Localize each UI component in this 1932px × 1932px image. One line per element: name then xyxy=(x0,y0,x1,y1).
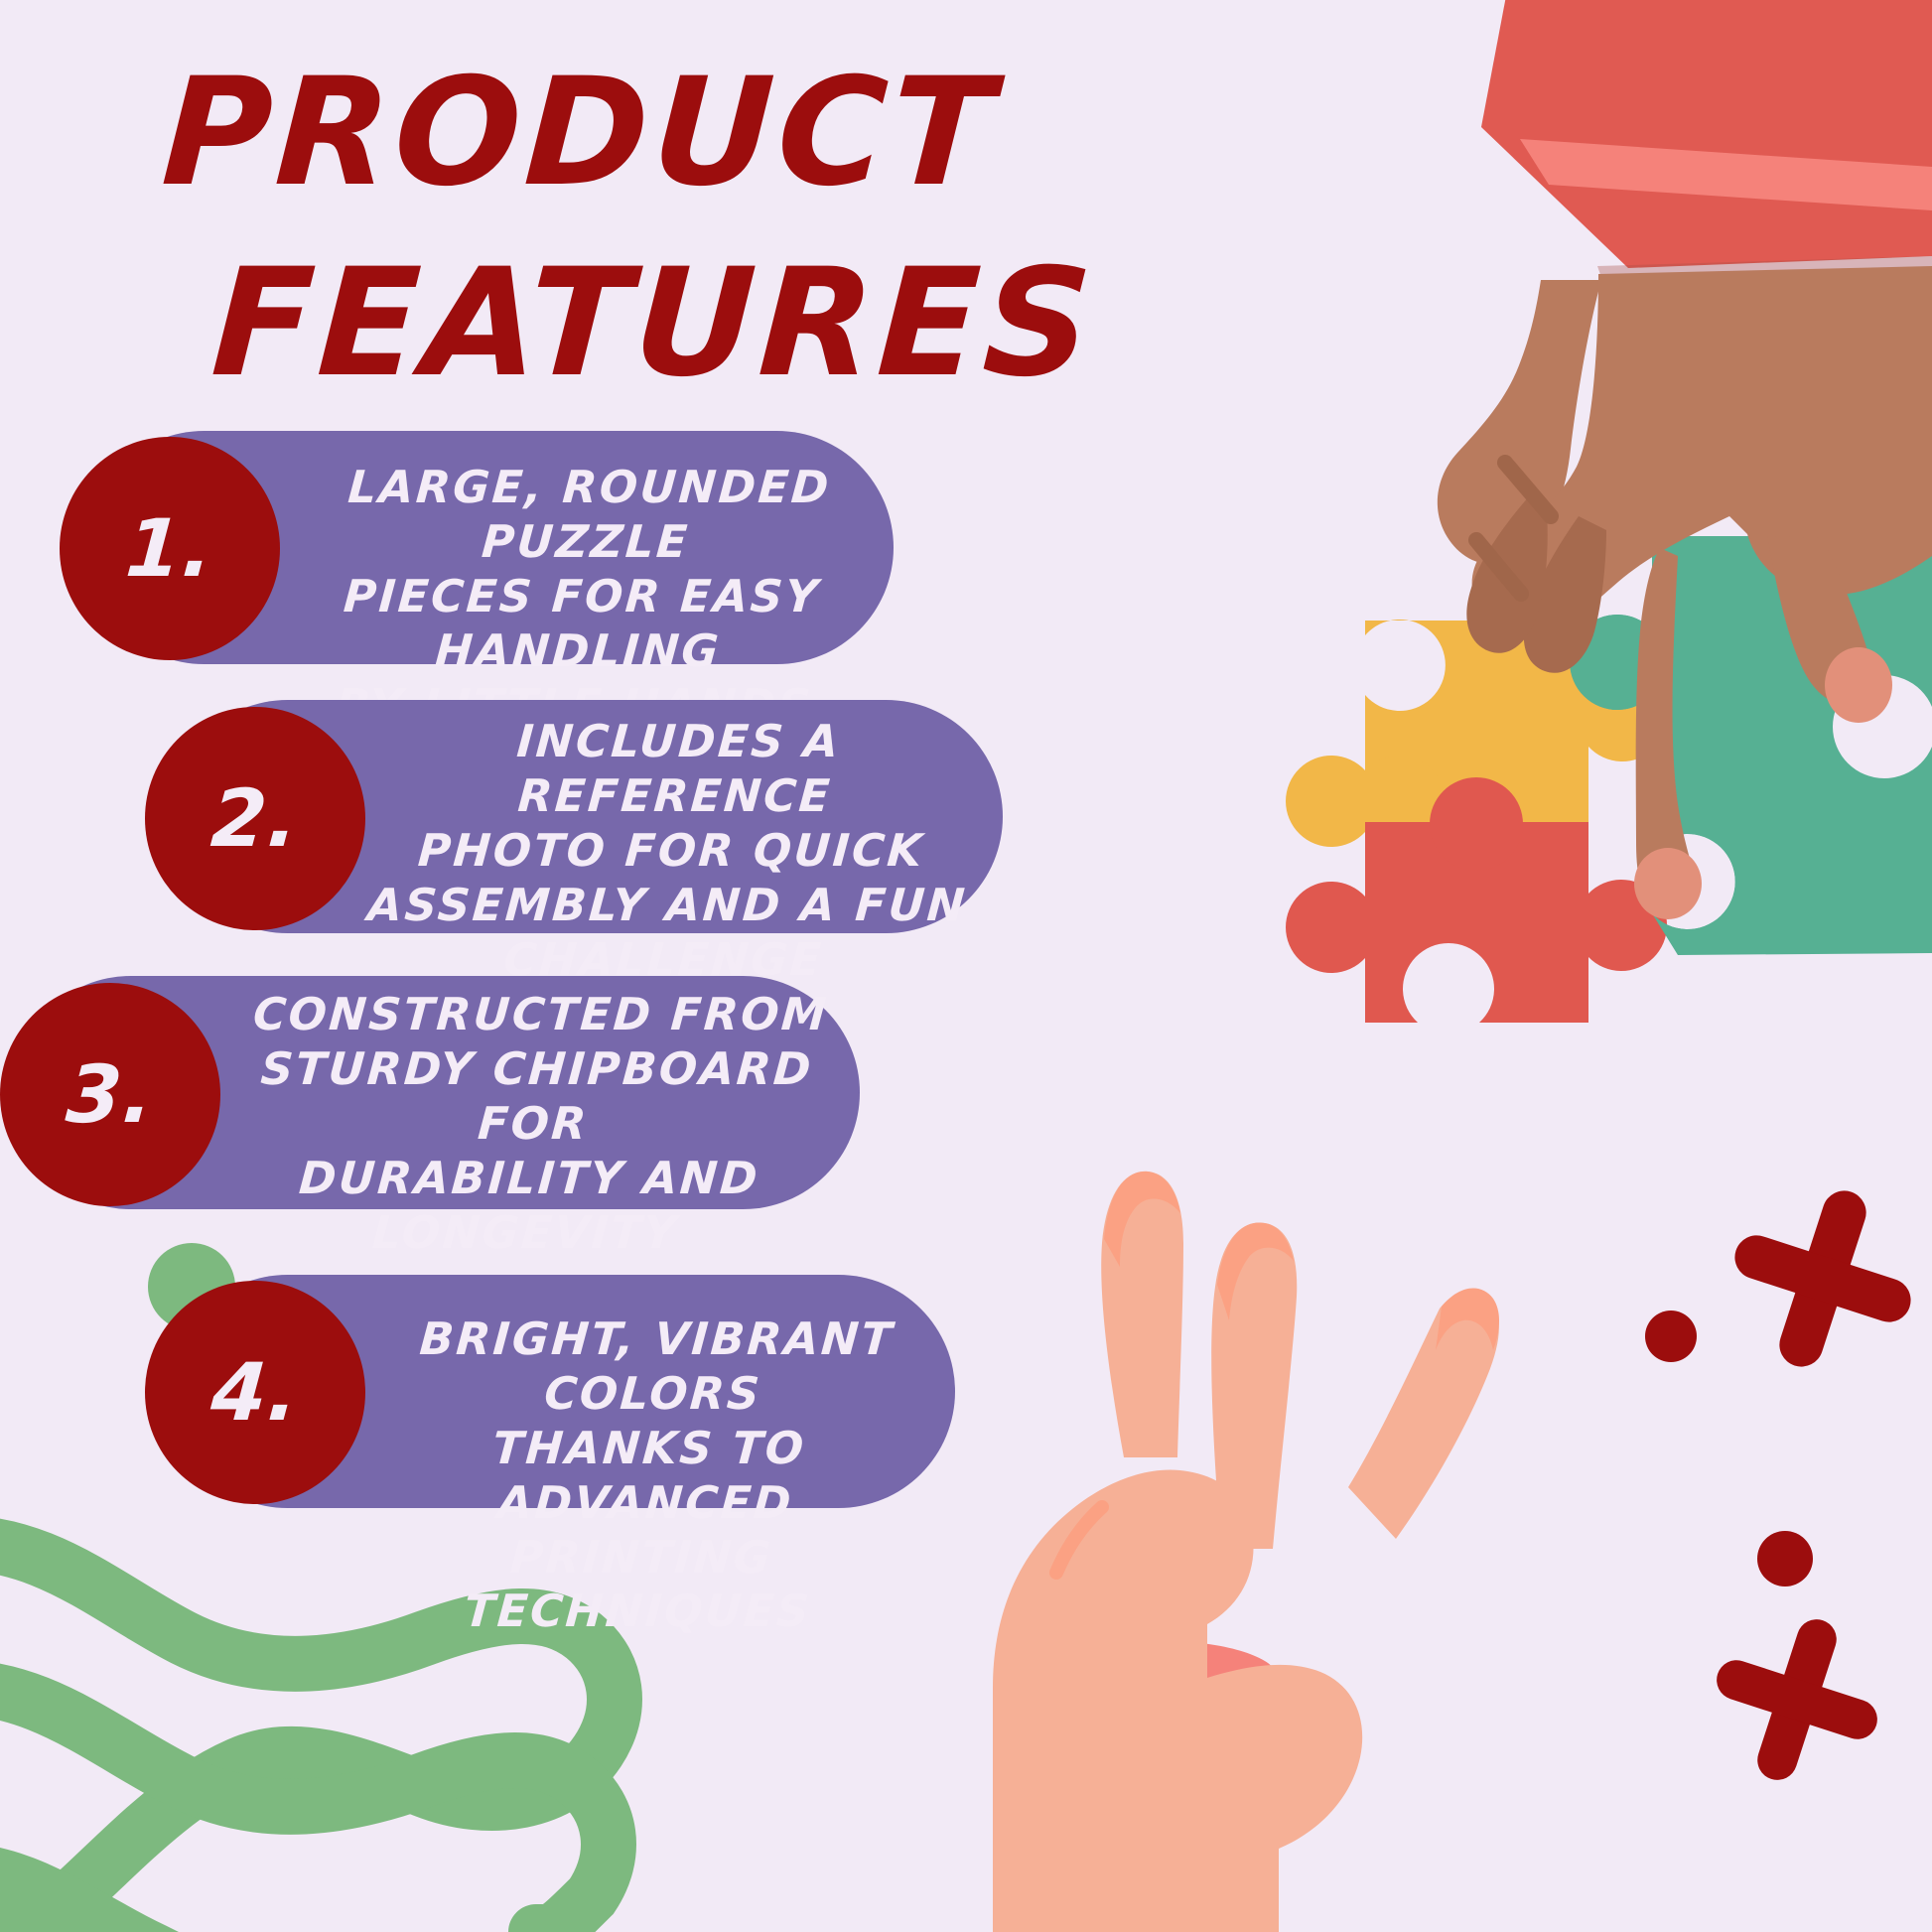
feature-number-3: 3. xyxy=(64,1055,157,1135)
title-line-2: FEATURES xyxy=(207,228,948,419)
upper-hand-illustration xyxy=(1438,0,1932,955)
feature-text-2: INCLUDES A REFERENCE PHOTO FOR QUICK ASS… xyxy=(353,715,988,987)
lower-hand-illustration xyxy=(993,1172,1499,1932)
feature-text-1: LARGE, ROUNDED PUZZLE PIECES FOR EASY HA… xyxy=(264,461,898,733)
feature-number-2: 2. xyxy=(208,779,302,859)
title-line-1: PRODUCT xyxy=(158,38,948,228)
poster-canvas: PRODUCT FEATURES 1. LARGE, ROUNDED PUZZL… xyxy=(0,0,1932,1932)
feature-number-badge-4: 4. xyxy=(145,1281,365,1504)
lower-hand-yellow-sleeve xyxy=(1005,1641,1276,1932)
feature-number-badge-2: 2. xyxy=(145,707,365,930)
feature-text-4: BRIGHT, VIBRANT COLORS THANKS TO ADVANCE… xyxy=(338,1312,956,1639)
red-cross-small-icon xyxy=(1692,1594,1902,1805)
red-cross-large-icon xyxy=(1708,1164,1932,1394)
feature-number-4: 4. xyxy=(208,1353,302,1433)
feature-text-3: CONSTRUCTED FROM STURDY CHIPBOARD FOR DU… xyxy=(210,988,855,1260)
puzzle-piece-red-icon xyxy=(1286,756,1667,1023)
decor-crosses-dots xyxy=(1645,1164,1932,1805)
red-dot-small-icon xyxy=(1645,1311,1697,1362)
puzzle-piece-green-icon xyxy=(1570,536,1932,955)
feature-number-1: 1. xyxy=(123,509,216,589)
red-dot-large-icon xyxy=(1757,1531,1813,1587)
page-title: PRODUCT FEATURES xyxy=(149,38,943,419)
feature-number-badge-3: 3. xyxy=(0,983,220,1206)
feature-number-badge-1: 1. xyxy=(60,437,280,660)
puzzle-piece-yellow-icon xyxy=(1286,620,1668,847)
